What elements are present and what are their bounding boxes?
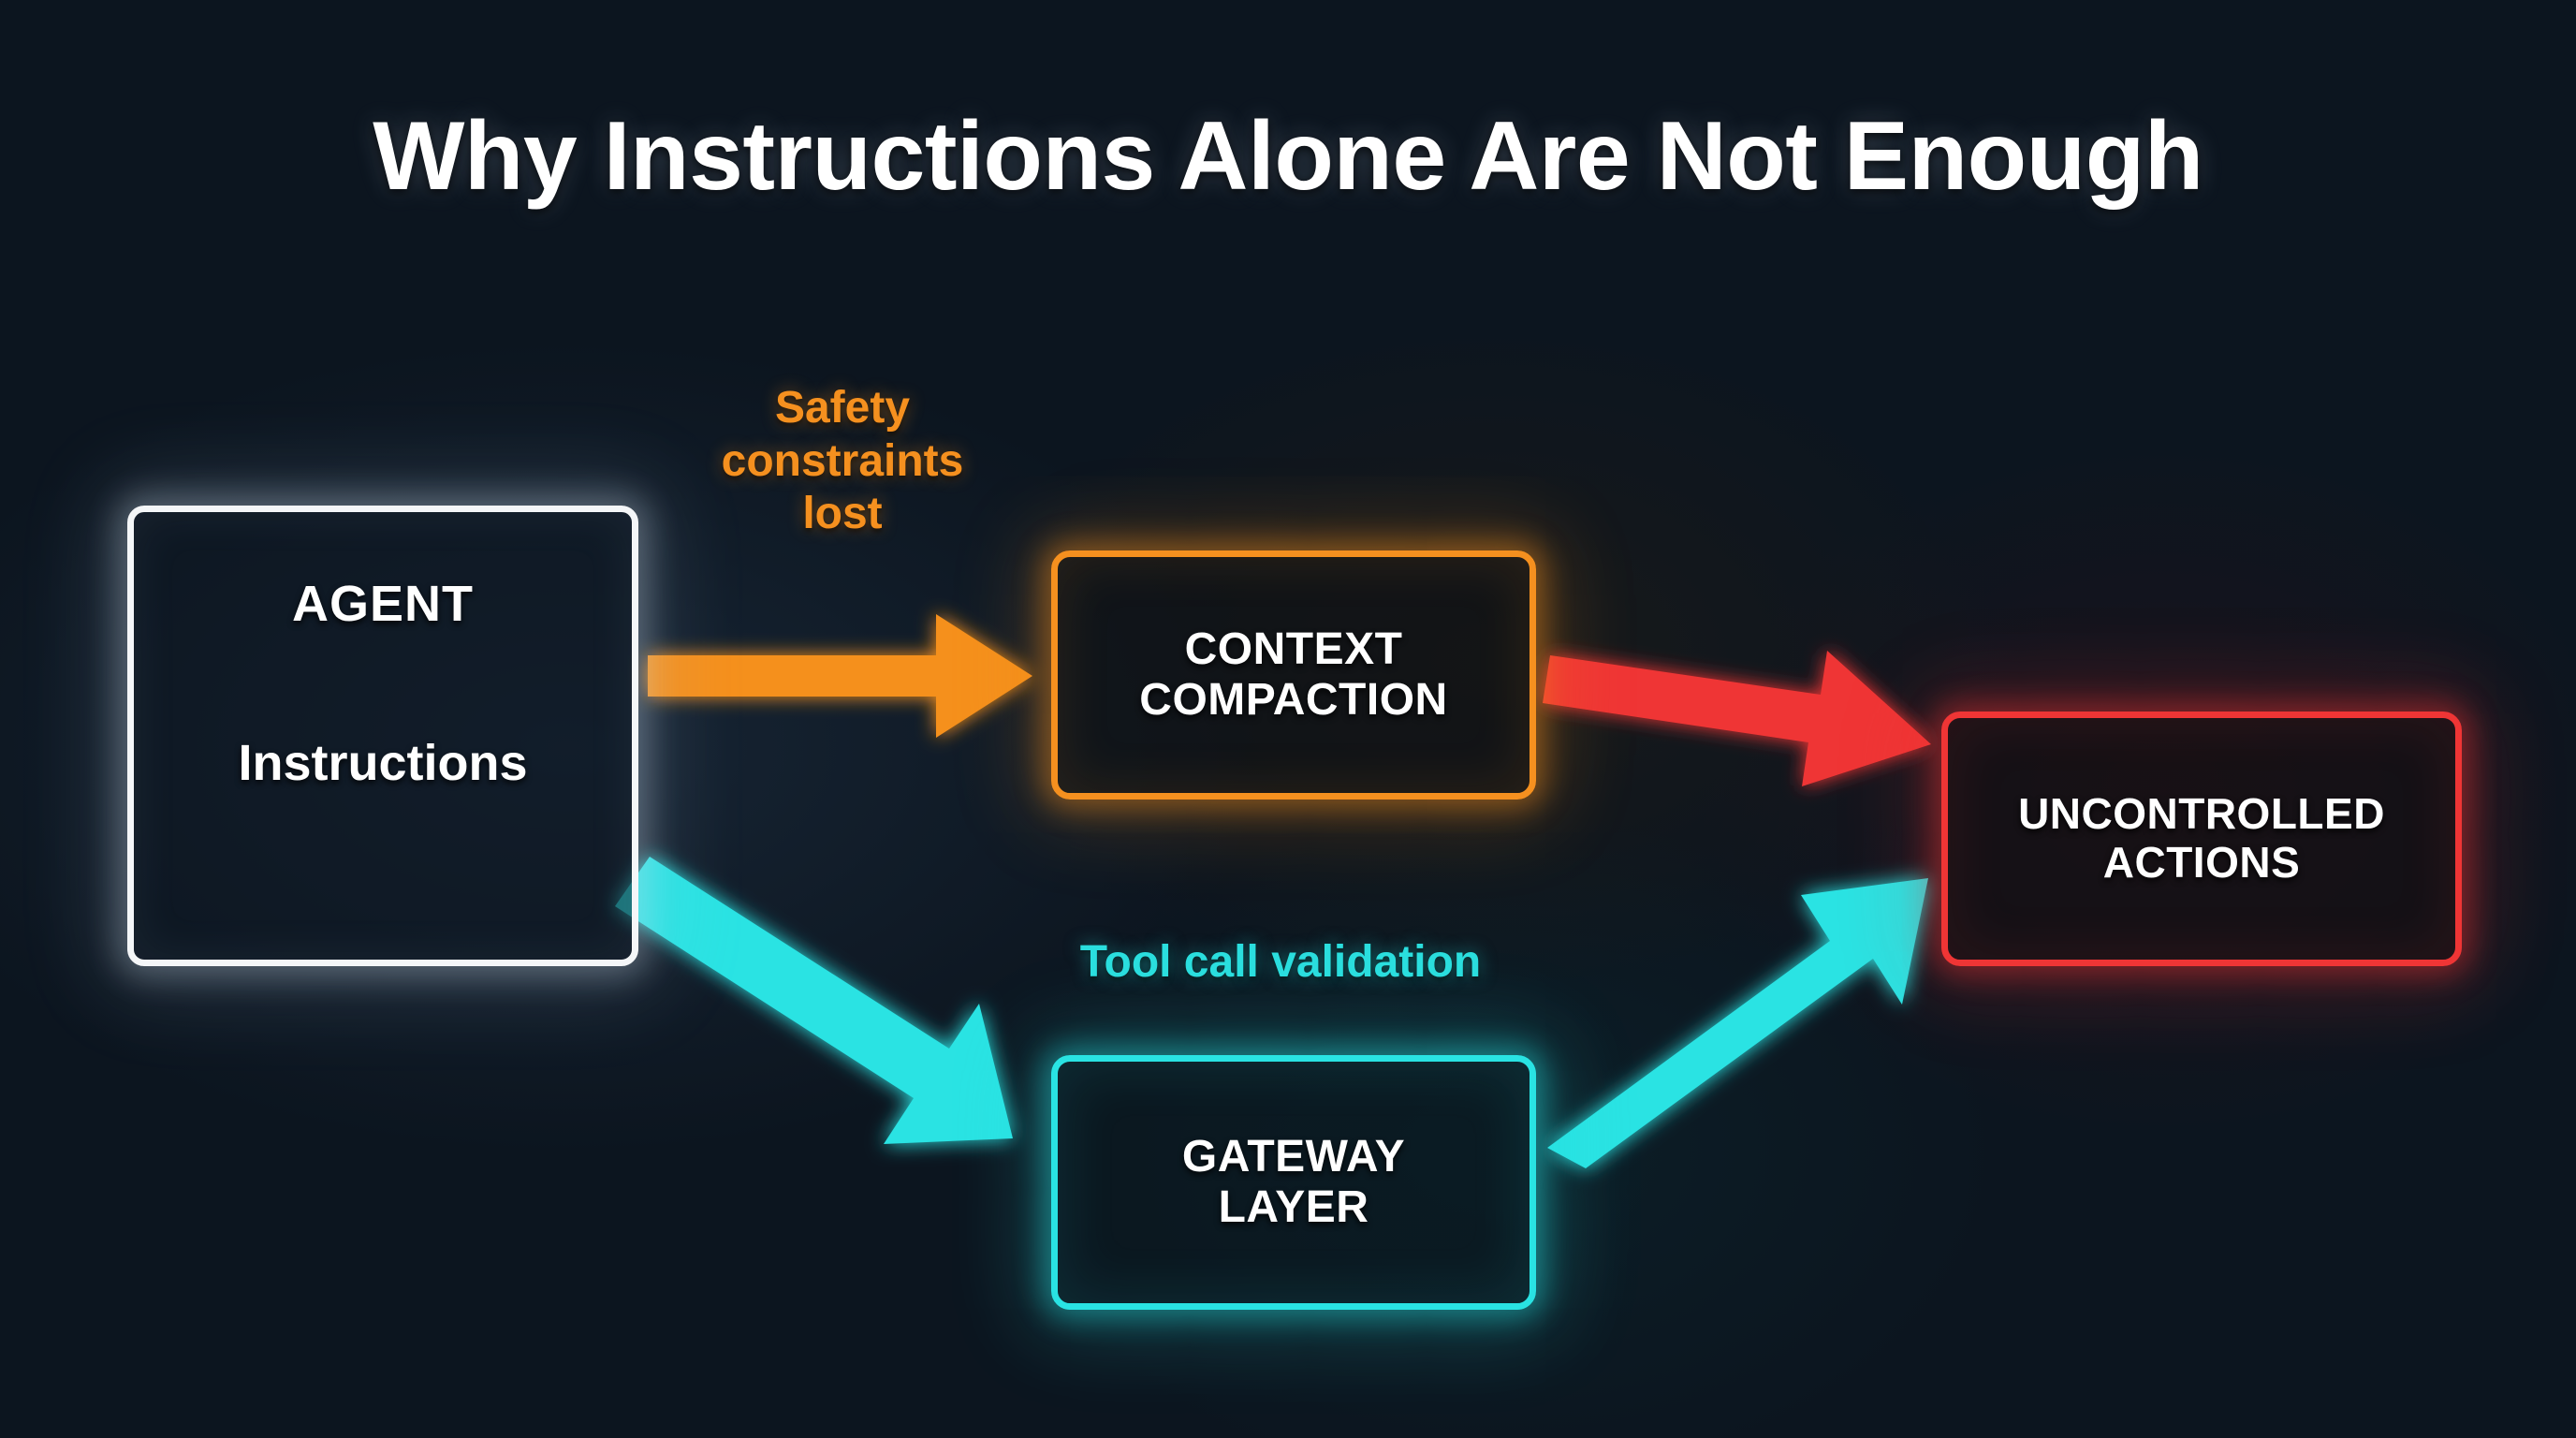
arrow-gateway-to-uncontrolled <box>1547 878 1928 1168</box>
node-context-compaction-line1: CONTEXT <box>1185 624 1403 675</box>
node-gateway-layer[interactable]: GATEWAY LAYER <box>1051 1055 1536 1310</box>
node-agent[interactable]: AGENT Instructions <box>127 506 638 966</box>
page-title: Why Instructions Alone Are Not Enough <box>0 101 2576 213</box>
node-gateway-layer-line2: LAYER <box>1219 1182 1369 1233</box>
node-agent-subtitle: Instructions <box>238 735 527 791</box>
edge-label-tool-call-validation: Tool call validation <box>981 936 1580 990</box>
diagram-canvas: Why Instructions Alone Are Not Enough <box>0 0 2576 1438</box>
node-uncontrolled-actions[interactable]: UNCONTROLLED ACTIONS <box>1941 712 2462 966</box>
arrow-compaction-to-uncontrolled <box>1543 651 1931 786</box>
node-uncontrolled-actions-line2: ACTIONS <box>2103 839 2301 888</box>
edge-label-safety-constraints-lost: Safety constraints lost <box>655 382 1030 541</box>
node-gateway-layer-line1: GATEWAY <box>1182 1132 1405 1182</box>
arrow-agent-to-compaction <box>648 614 1032 738</box>
arrow-agent-to-gateway <box>615 857 1013 1144</box>
node-context-compaction[interactable]: CONTEXT COMPACTION <box>1051 550 1536 800</box>
node-uncontrolled-actions-line1: UNCONTROLLED <box>2018 790 2385 839</box>
node-agent-title: AGENT <box>292 576 474 632</box>
node-context-compaction-line2: COMPACTION <box>1139 675 1447 726</box>
